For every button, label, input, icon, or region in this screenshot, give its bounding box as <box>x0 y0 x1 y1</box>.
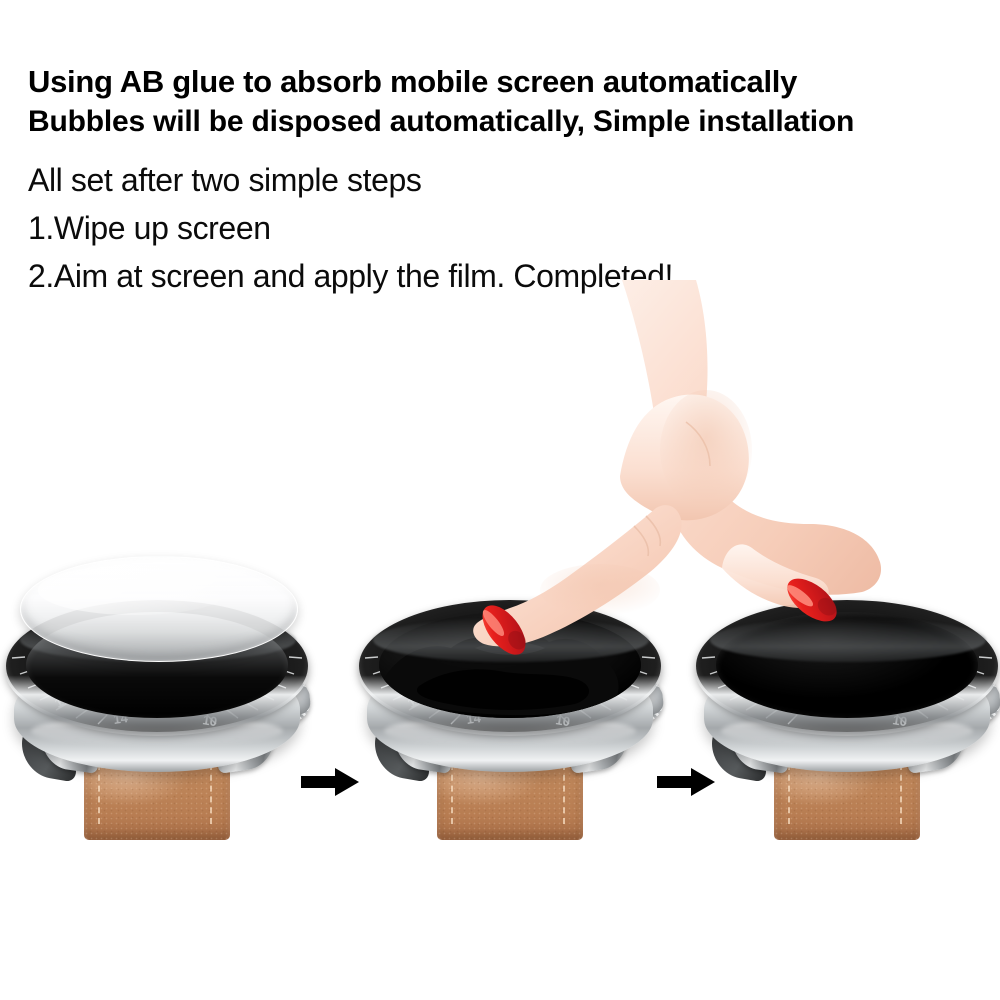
strap-stitching-left <box>451 764 457 824</box>
watch-step-3: 19 16 10 <box>686 560 1000 840</box>
headline-line-1: Using AB glue to absorb mobile screen au… <box>28 62 988 102</box>
watch-step-1: 16 14 10 <box>0 560 316 840</box>
watch-step-2: 16 14 10 <box>349 560 669 840</box>
strap-stitching-left <box>788 764 794 824</box>
headline-line-2: Bubbles will be disposed automatically, … <box>28 102 988 142</box>
strap-stitching-right <box>210 764 216 824</box>
glue-spread-pattern <box>379 612 641 718</box>
right-arrow-icon <box>655 765 717 799</box>
text-spacer <box>28 142 988 156</box>
step-2-line: 2.Aim at screen and apply the film. Comp… <box>28 252 988 300</box>
right-arrow-icon <box>299 765 361 799</box>
strap-stitching-left <box>98 764 104 824</box>
strap-stitching-right <box>563 764 569 824</box>
svg-text:10: 10 <box>892 712 909 729</box>
watch-screen <box>716 612 978 718</box>
svg-text:10: 10 <box>202 712 219 729</box>
screen-protector-film <box>20 556 298 662</box>
step-1-line: 1.Wipe up screen <box>28 204 988 252</box>
intro-line: All set after two simple steps <box>28 156 988 204</box>
product-instruction-image: Using AB glue to absorb mobile screen au… <box>0 0 1000 1000</box>
watch-illustration-scene: 16 14 10 <box>0 540 1000 840</box>
strap-stitching-right <box>900 764 906 824</box>
watch-screen <box>379 612 641 718</box>
instruction-text-block: Using AB glue to absorb mobile screen au… <box>28 62 988 300</box>
